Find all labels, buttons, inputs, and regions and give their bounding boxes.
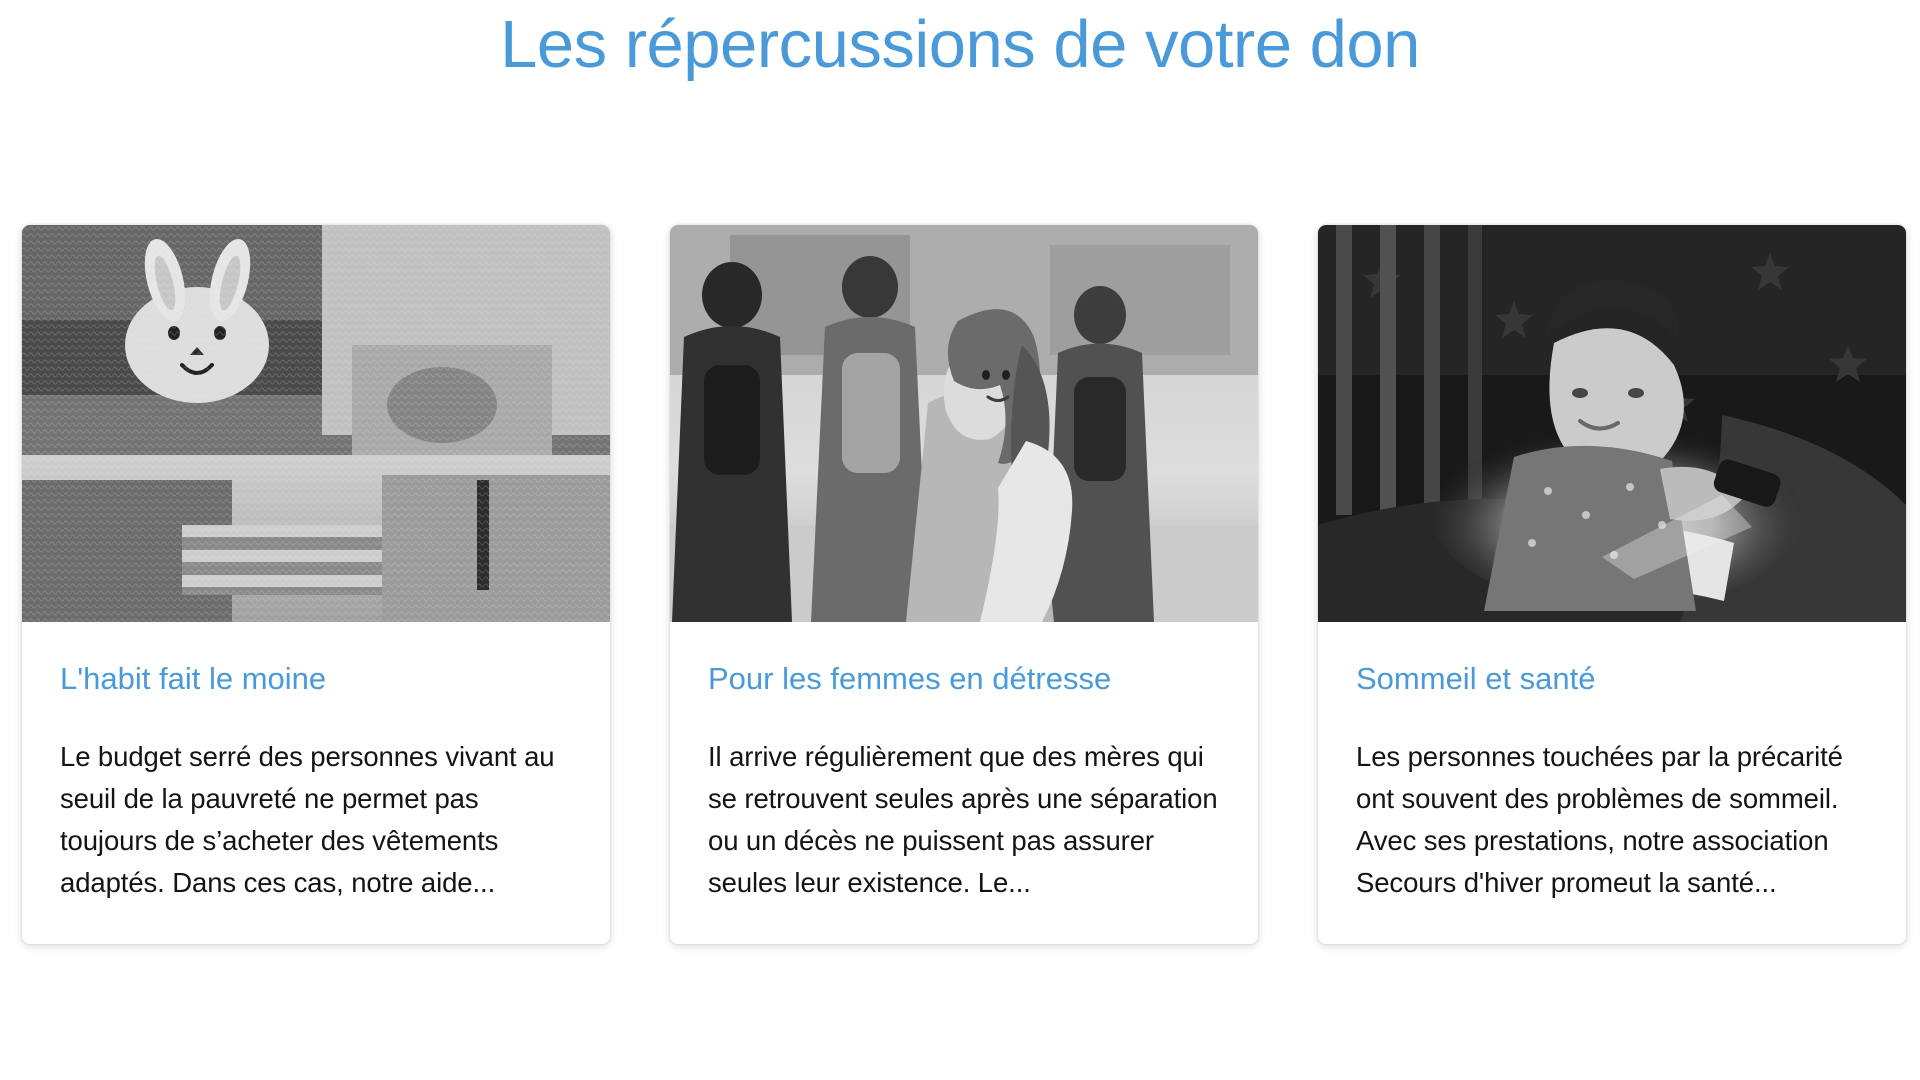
card-body: Sommeil et santé Les personnes touchées … xyxy=(1318,622,1906,944)
card-image-child-reading-at-night xyxy=(1318,225,1906,622)
card-body: Pour les femmes en détresse Il arrive ré… xyxy=(670,622,1258,944)
card-text: Il arrive régulièrement que des mères qu… xyxy=(708,736,1220,903)
impact-card[interactable]: L'habit fait le moine Le budget serré de… xyxy=(22,225,610,944)
card-title[interactable]: L'habit fait le moine xyxy=(60,660,572,698)
card-title[interactable]: Pour les femmes en détresse xyxy=(708,660,1220,698)
card-body: L'habit fait le moine Le budget serré de… xyxy=(22,622,610,944)
card-image-woman-with-bag-in-crowd xyxy=(670,225,1258,622)
card-title[interactable]: Sommeil et santé xyxy=(1356,660,1868,698)
impact-section: Les répercussions de votre don xyxy=(0,0,1920,1080)
card-text: Les personnes touchées par la précarité … xyxy=(1356,736,1868,903)
card-text: Le budget serré des personnes vivant au … xyxy=(60,736,572,903)
page-title: Les répercussions de votre don xyxy=(0,0,1920,82)
card-image-donated-knitwear-and-toy xyxy=(22,225,610,622)
impact-card[interactable]: Sommeil et santé Les personnes touchées … xyxy=(1318,225,1906,944)
impact-card-list: L'habit fait le moine Le budget serré de… xyxy=(22,225,1900,944)
impact-card[interactable]: Pour les femmes en détresse Il arrive ré… xyxy=(670,225,1258,944)
